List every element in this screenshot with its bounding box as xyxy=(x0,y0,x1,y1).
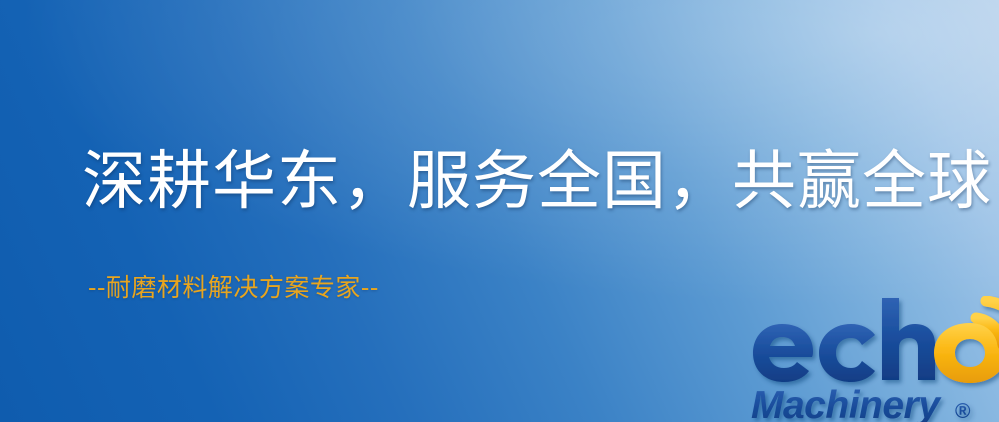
page-subtitle: --耐磨材料解决方案专家-- xyxy=(88,268,379,304)
logo-letter-e xyxy=(753,324,813,382)
logo-letter-h xyxy=(882,298,935,380)
logo-letter-c xyxy=(819,324,875,382)
logo-mark-icon: Machinery ® xyxy=(748,296,999,422)
promo-banner: 深耕华东，服务全国，共赢全球 --耐磨材料解决方案专家-- xyxy=(0,0,999,422)
logo-registered-mark: ® xyxy=(955,400,971,422)
logo-wordmark-machinery: Machinery xyxy=(751,384,942,422)
page-title: 深耕华东，服务全国，共赢全球 xyxy=(82,148,992,217)
echo-machinery-logo[interactable]: Machinery ® xyxy=(748,296,999,422)
logo-letter-o-accent xyxy=(934,323,999,383)
